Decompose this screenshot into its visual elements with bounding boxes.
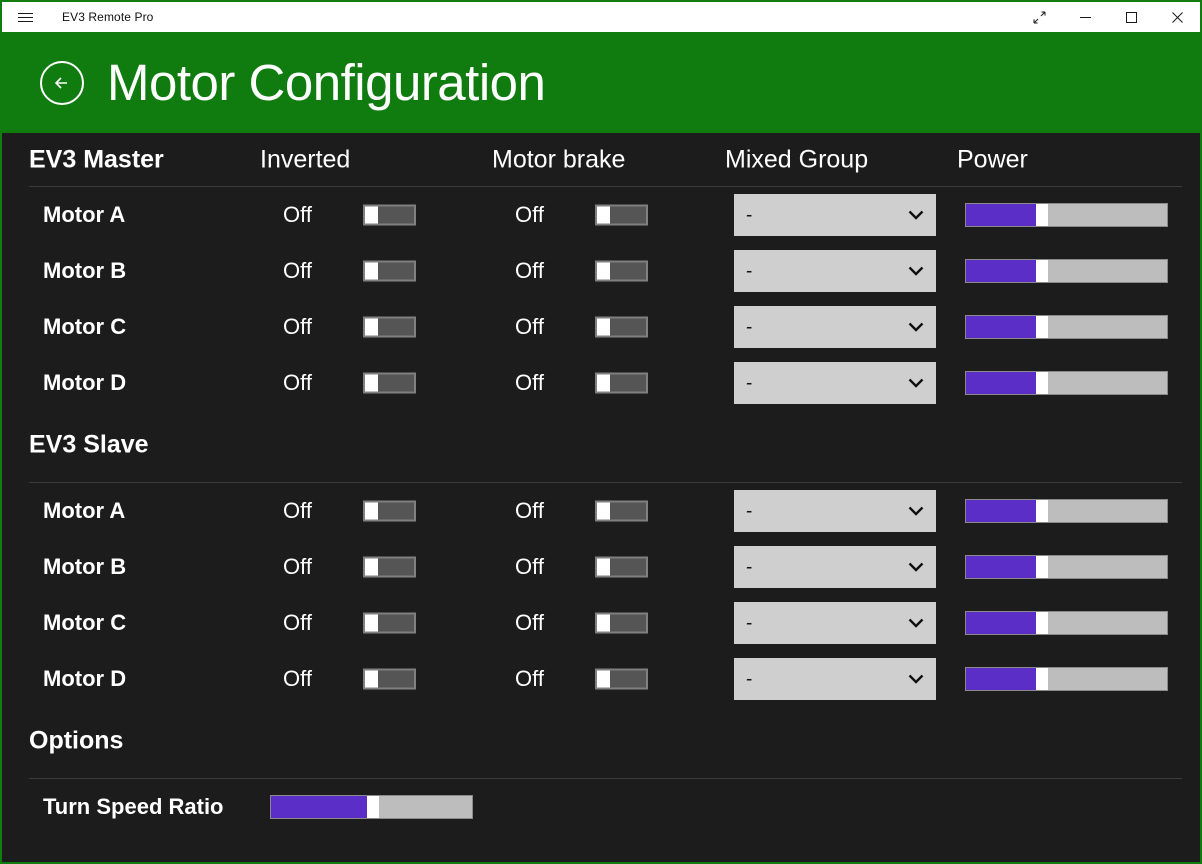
slider-track — [1048, 556, 1167, 578]
brake-state: Off — [515, 258, 544, 284]
inverted-state: Off — [283, 554, 312, 580]
brake-toggle[interactable] — [595, 373, 648, 394]
brake-state: Off — [515, 498, 544, 524]
inverted-state: Off — [283, 314, 312, 340]
turn-speed-ratio-slider[interactable] — [270, 795, 473, 819]
power-slider[interactable] — [965, 203, 1168, 227]
chevron-down-icon — [908, 378, 924, 388]
mixed-group-value: - — [746, 558, 752, 577]
window-controls — [1016, 2, 1200, 32]
toggle-knob — [365, 615, 378, 632]
section-title-master: EV3 Master — [29, 146, 164, 175]
content-area: EV3 Master Inverted Motor brake Mixed Gr… — [2, 133, 1200, 862]
inverted-state: Off — [283, 666, 312, 692]
app-window: EV3 Remote Pro — [0, 0, 1202, 864]
toggle-knob — [597, 559, 610, 576]
chevron-down-icon — [908, 266, 924, 276]
power-slider[interactable] — [965, 371, 1168, 395]
back-arrow-circle-icon[interactable] — [40, 61, 84, 105]
brake-state: Off — [515, 666, 544, 692]
inverted-toggle[interactable] — [363, 317, 416, 338]
toggle-knob — [365, 559, 378, 576]
toggle-knob — [365, 319, 378, 336]
mixed-group-select[interactable]: - — [734, 490, 936, 532]
minimize-button[interactable] — [1062, 2, 1108, 32]
table-row: Motor A Off Off - — [2, 187, 1200, 243]
column-header-inverted: Inverted — [260, 146, 350, 175]
turn-speed-ratio-row: Turn Speed Ratio — [2, 779, 1200, 835]
power-slider[interactable] — [965, 667, 1168, 691]
brake-toggle[interactable] — [595, 205, 648, 226]
maximize-button[interactable] — [1108, 2, 1154, 32]
inverted-toggle[interactable] — [363, 557, 416, 578]
power-slider[interactable] — [965, 611, 1168, 635]
table-row: Motor C Off Off - — [2, 299, 1200, 355]
slider-thumb[interactable] — [1036, 500, 1048, 522]
toggle-knob — [597, 615, 610, 632]
toggle-knob — [365, 207, 378, 224]
slider-track — [1048, 260, 1167, 282]
brake-toggle[interactable] — [595, 669, 648, 690]
brake-state: Off — [515, 610, 544, 636]
mixed-group-value: - — [746, 262, 752, 281]
toggle-knob — [597, 319, 610, 336]
slider-track — [1048, 668, 1167, 690]
brake-toggle[interactable] — [595, 261, 648, 282]
chevron-down-icon — [908, 618, 924, 628]
mixed-group-select[interactable]: - — [734, 362, 936, 404]
inverted-toggle[interactable] — [363, 373, 416, 394]
inverted-state: Off — [283, 258, 312, 284]
inverted-toggle[interactable] — [363, 669, 416, 690]
table-row: Motor B Off Off - — [2, 243, 1200, 299]
mixed-group-value: - — [746, 614, 752, 633]
hamburger-menu-icon[interactable] — [2, 2, 48, 32]
brake-state: Off — [515, 202, 544, 228]
slider-thumb[interactable] — [1036, 204, 1048, 226]
motor-label: Motor B — [43, 554, 126, 580]
title-bar: EV3 Remote Pro — [2, 2, 1200, 32]
inverted-toggle[interactable] — [363, 501, 416, 522]
section-title-options: Options — [29, 727, 123, 756]
mixed-group-value: - — [746, 502, 752, 521]
chevron-down-icon — [908, 210, 924, 220]
slider-thumb[interactable] — [1036, 612, 1048, 634]
column-header-motor-brake: Motor brake — [492, 146, 625, 175]
mixed-group-select[interactable]: - — [734, 658, 936, 700]
slider-fill — [966, 260, 1036, 282]
mixed-group-select[interactable]: - — [734, 546, 936, 588]
slider-track — [1048, 500, 1167, 522]
table-row: Motor D Off Off - — [2, 355, 1200, 411]
slider-track — [1048, 316, 1167, 338]
chevron-down-icon — [908, 506, 924, 516]
slider-thumb[interactable] — [367, 796, 379, 818]
brake-toggle[interactable] — [595, 613, 648, 634]
page-header: Motor Configuration — [2, 32, 1200, 133]
section-title-slave: EV3 Slave — [29, 431, 149, 460]
power-slider[interactable] — [965, 315, 1168, 339]
power-slider[interactable] — [965, 555, 1168, 579]
mixed-group-value: - — [746, 206, 752, 225]
slider-thumb[interactable] — [1036, 556, 1048, 578]
column-header-power: Power — [957, 146, 1028, 175]
motor-label: Motor A — [43, 202, 125, 228]
inverted-state: Off — [283, 370, 312, 396]
slider-track — [1048, 372, 1167, 394]
table-row: Motor C Off Off - — [2, 595, 1200, 651]
mixed-group-select[interactable]: - — [734, 306, 936, 348]
slider-fill — [966, 204, 1036, 226]
brake-toggle[interactable] — [595, 501, 648, 522]
brake-state: Off — [515, 554, 544, 580]
toggle-knob — [597, 263, 610, 280]
mixed-group-value: - — [746, 670, 752, 689]
toggle-knob — [365, 263, 378, 280]
column-header-mixed-group: Mixed Group — [725, 146, 868, 175]
inverted-toggle[interactable] — [363, 261, 416, 282]
slider-fill — [966, 612, 1036, 634]
power-slider[interactable] — [965, 499, 1168, 523]
toggle-knob — [597, 671, 610, 688]
table-row: Motor B Off Off - — [2, 539, 1200, 595]
table-row: Motor D Off Off - — [2, 651, 1200, 707]
slider-thumb[interactable] — [1036, 316, 1048, 338]
chevron-down-icon — [908, 562, 924, 572]
slider-track — [379, 796, 472, 818]
mixed-group-value: - — [746, 318, 752, 337]
section-header-slave: EV3 Slave — [2, 411, 1200, 483]
inverted-toggle[interactable] — [363, 205, 416, 226]
section-header-master: EV3 Master Inverted Motor brake Mixed Gr… — [2, 133, 1200, 187]
turn-speed-ratio-label: Turn Speed Ratio — [43, 794, 243, 820]
brake-toggle[interactable] — [595, 317, 648, 338]
power-slider[interactable] — [965, 259, 1168, 283]
inverted-state: Off — [283, 610, 312, 636]
motor-label: Motor D — [43, 666, 126, 692]
slider-fill — [966, 500, 1036, 522]
inverted-state: Off — [283, 498, 312, 524]
brake-state: Off — [515, 370, 544, 396]
motor-label: Motor B — [43, 258, 126, 284]
toggle-knob — [597, 375, 610, 392]
inverted-toggle[interactable] — [363, 613, 416, 634]
section-header-options: Options — [2, 707, 1200, 779]
chevron-down-icon — [908, 322, 924, 332]
brake-state: Off — [515, 314, 544, 340]
inverted-state: Off — [283, 202, 312, 228]
table-row: Motor A Off Off - — [2, 483, 1200, 539]
slider-thumb[interactable] — [1036, 260, 1048, 282]
page-title: Motor Configuration — [107, 57, 545, 108]
app-title: EV3 Remote Pro — [62, 10, 153, 24]
brake-toggle[interactable] — [595, 557, 648, 578]
slider-fill — [966, 316, 1036, 338]
slider-fill — [271, 796, 367, 818]
mixed-group-select[interactable]: - — [734, 194, 936, 236]
toggle-knob — [365, 375, 378, 392]
fullscreen-button[interactable] — [1016, 2, 1062, 32]
toggle-knob — [365, 503, 378, 520]
slider-fill — [966, 668, 1036, 690]
motor-label: Motor D — [43, 370, 126, 396]
motor-label: Motor C — [43, 610, 126, 636]
toggle-knob — [597, 503, 610, 520]
chevron-down-icon — [908, 674, 924, 684]
motor-label: Motor C — [43, 314, 126, 340]
mixed-group-select[interactable]: - — [734, 602, 936, 644]
toggle-knob — [365, 671, 378, 688]
slider-thumb[interactable] — [1036, 668, 1048, 690]
close-button[interactable] — [1154, 2, 1200, 32]
slider-track — [1048, 204, 1167, 226]
slider-fill — [966, 556, 1036, 578]
slider-track — [1048, 612, 1167, 634]
slider-fill — [966, 372, 1036, 394]
toggle-knob — [597, 207, 610, 224]
mixed-group-select[interactable]: - — [734, 250, 936, 292]
motor-label: Motor A — [43, 498, 125, 524]
mixed-group-value: - — [746, 374, 752, 393]
slider-thumb[interactable] — [1036, 372, 1048, 394]
